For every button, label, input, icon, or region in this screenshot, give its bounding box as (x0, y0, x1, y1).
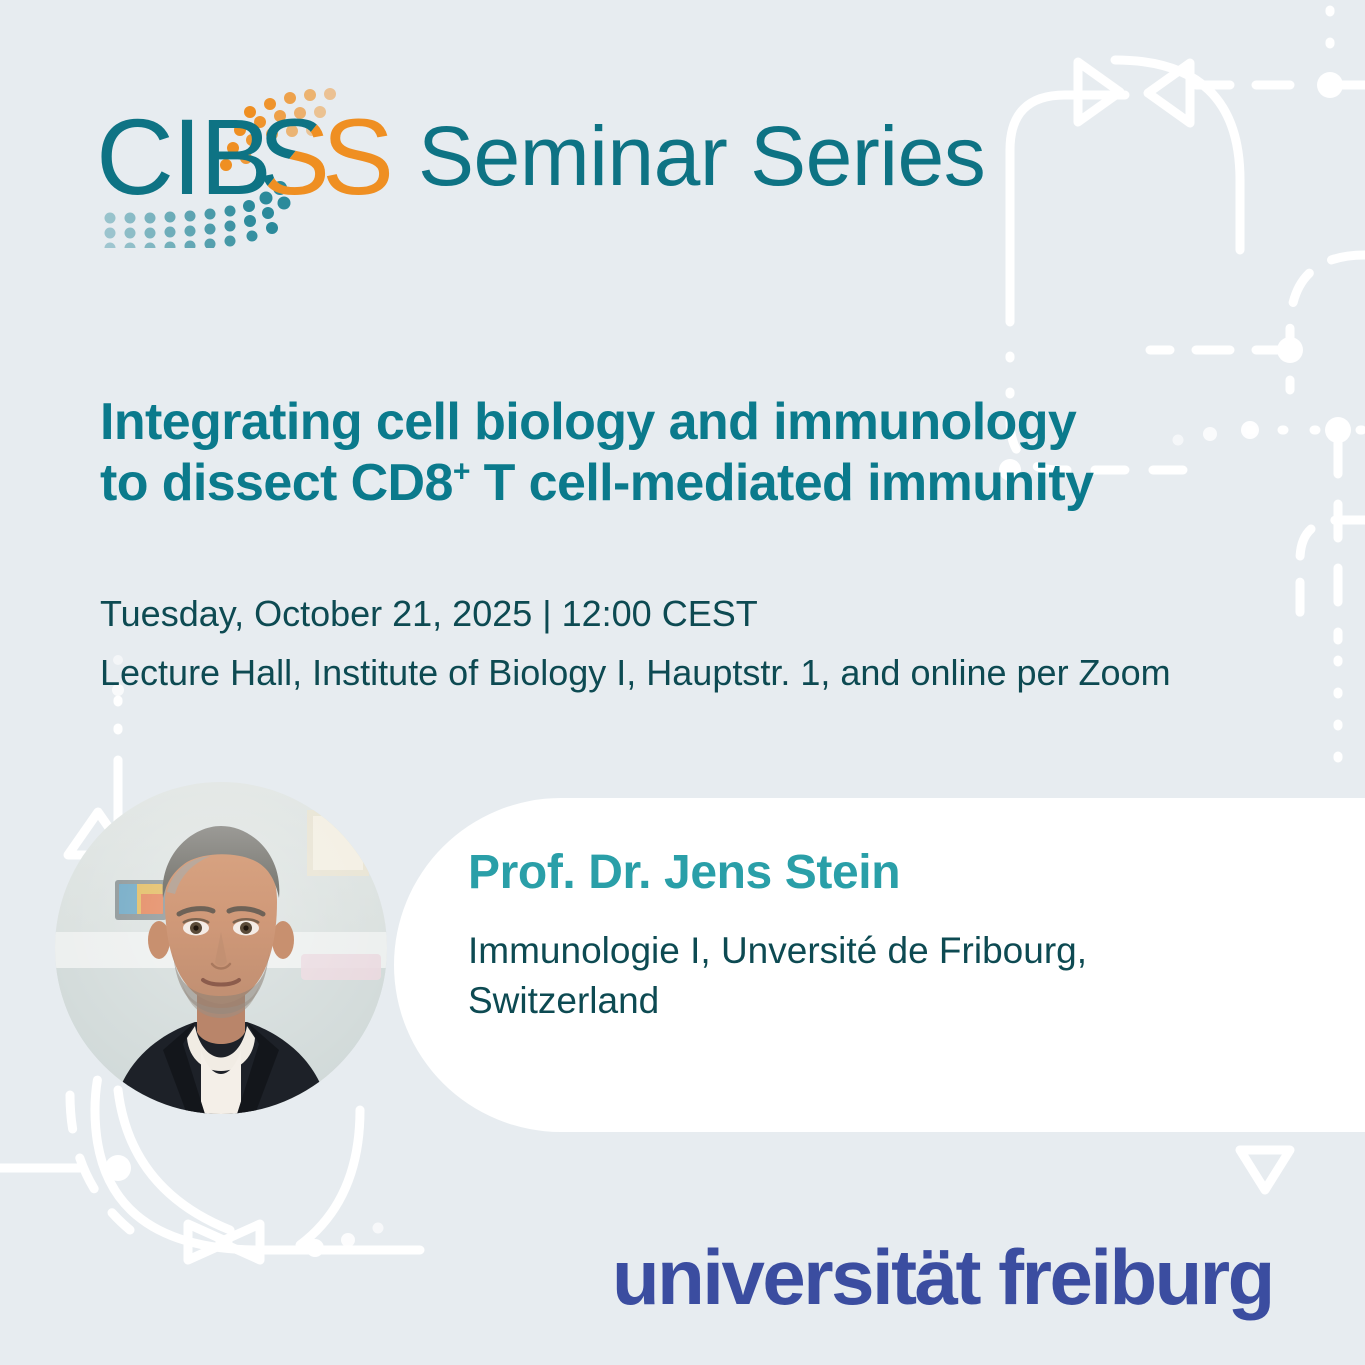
university-logo: universität freiburg (612, 1232, 1273, 1323)
event-meta: Tuesday, October 21, 2025 | 12:00 CEST L… (100, 588, 1280, 698)
svg-text:CIB: CIB (100, 96, 270, 217)
poster-header: CIBSS CIB S S S Seminar Series (100, 96, 985, 216)
speaker-affiliation: Immunologie I, Unversité de Fribourg, Sw… (468, 926, 1288, 1025)
speaker-portrait (55, 782, 387, 1114)
cibss-logo: CIBSS CIB S S S (100, 68, 390, 248)
talk-title-line-2: to dissect CD8+ T cell-mediated immunity (100, 453, 1325, 514)
series-title: Seminar Series (418, 108, 985, 205)
talk-title-line-1: Integrating cell biology and immunology (100, 392, 1325, 453)
event-location: Lecture Hall, Institute of Biology I, Ha… (100, 647, 1280, 698)
svg-text:S: S (322, 96, 390, 217)
event-datetime: Tuesday, October 21, 2025 | 12:00 CEST (100, 588, 1280, 639)
talk-title-superscript: + (453, 456, 470, 489)
talk-title: Integrating cell biology and immunology … (100, 392, 1325, 514)
speaker-info: Prof. Dr. Jens Stein Immunologie I, Unve… (468, 845, 1288, 1025)
seminar-poster: CIBSS CIB S S S Seminar Series (0, 0, 1365, 1365)
talk-title-line-2-post: T cell-mediated immunity (470, 454, 1094, 512)
speaker-name: Prof. Dr. Jens Stein (468, 845, 1288, 900)
talk-title-line-2-pre: to dissect CD8 (100, 454, 453, 512)
